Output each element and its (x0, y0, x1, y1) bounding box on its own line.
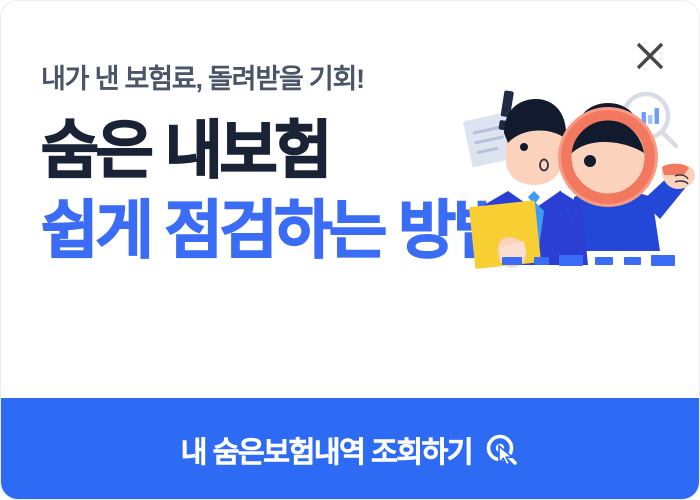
cta-label: 내 숨은보험내역 조회하기 (181, 429, 472, 471)
man-with-magnifying-glass-illustration (456, 79, 700, 274)
magnifier-ring-icon (560, 109, 657, 206)
magnifier-cursor-icon (485, 433, 519, 467)
cta-bar[interactable]: 내 숨은보험내역 조회하기 (1, 398, 699, 500)
insurance-promo-banner: 내가 낸 보험료, 돌려받을 기회! 숨은 내보험 쉽게 점검하는 방법 (0, 0, 700, 500)
